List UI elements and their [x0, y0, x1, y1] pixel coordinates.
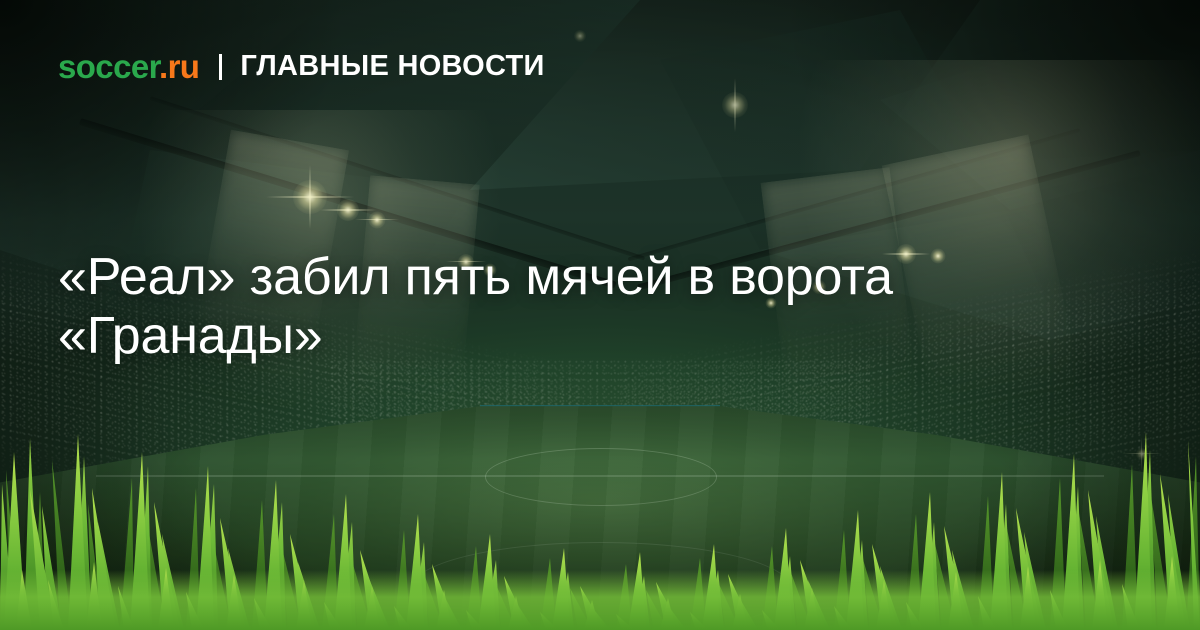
logo-name-text: soccer	[58, 48, 159, 85]
site-logo[interactable]: soccer.ru	[58, 50, 199, 83]
site-header: soccer.ru ГЛАВНЫЕ НОВОСТИ	[58, 50, 545, 83]
header-separator	[219, 54, 222, 80]
headline-line-1: «Реал» забил пять мячей в ворота	[58, 248, 1098, 307]
logo-tld-text: .ru	[159, 48, 199, 85]
section-title: ГЛАВНЫЕ НОВОСТИ	[240, 52, 544, 81]
foreground-grass	[0, 430, 1200, 630]
headline-line-2: «Гранады»	[58, 307, 1098, 366]
article-headline: «Реал» забил пять мячей в ворота «Гранад…	[58, 248, 1098, 367]
share-card: soccer.ru ГЛАВНЫЕ НОВОСТИ «Реал» забил п…	[0, 0, 1200, 630]
